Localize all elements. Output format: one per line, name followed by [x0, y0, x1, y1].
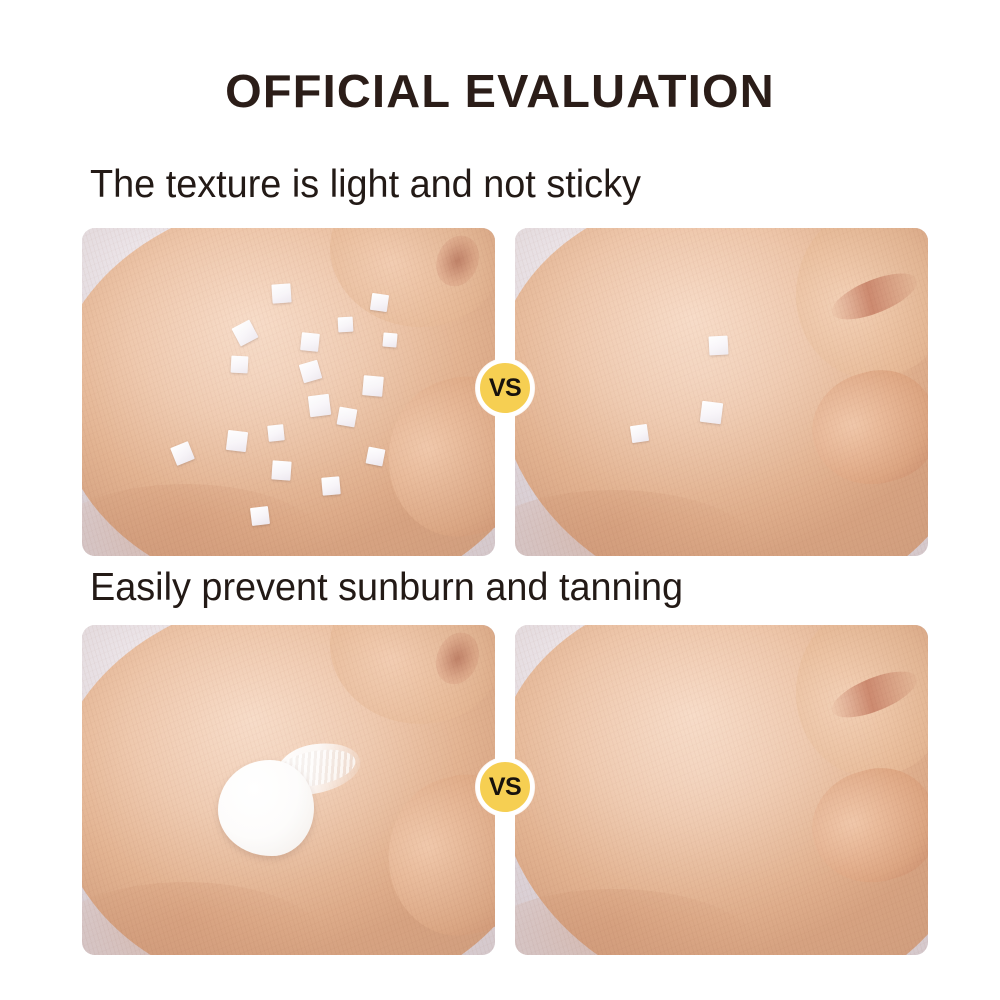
photo-panel-few-chips [515, 228, 928, 556]
vs-badge-row1: VS [476, 359, 534, 417]
photo-panel-cream-applied [82, 625, 495, 955]
photo-panel-many-chips [82, 228, 495, 556]
panel-vignette [515, 228, 928, 556]
panel-vignette [515, 625, 928, 955]
panel-vignette [82, 625, 495, 955]
promo-page: OFFICIAL EVALUATION The texture is light… [0, 0, 1000, 1000]
section-subtitle-sunburn: Easily prevent sunburn and tanning [90, 565, 683, 611]
page-title: OFFICIAL EVALUATION [0, 64, 1000, 118]
vs-badge-row2: VS [476, 758, 534, 816]
photo-panel-bare-skin [515, 625, 928, 955]
section-subtitle-texture: The texture is light and not sticky [90, 162, 641, 208]
panel-vignette [82, 228, 495, 556]
